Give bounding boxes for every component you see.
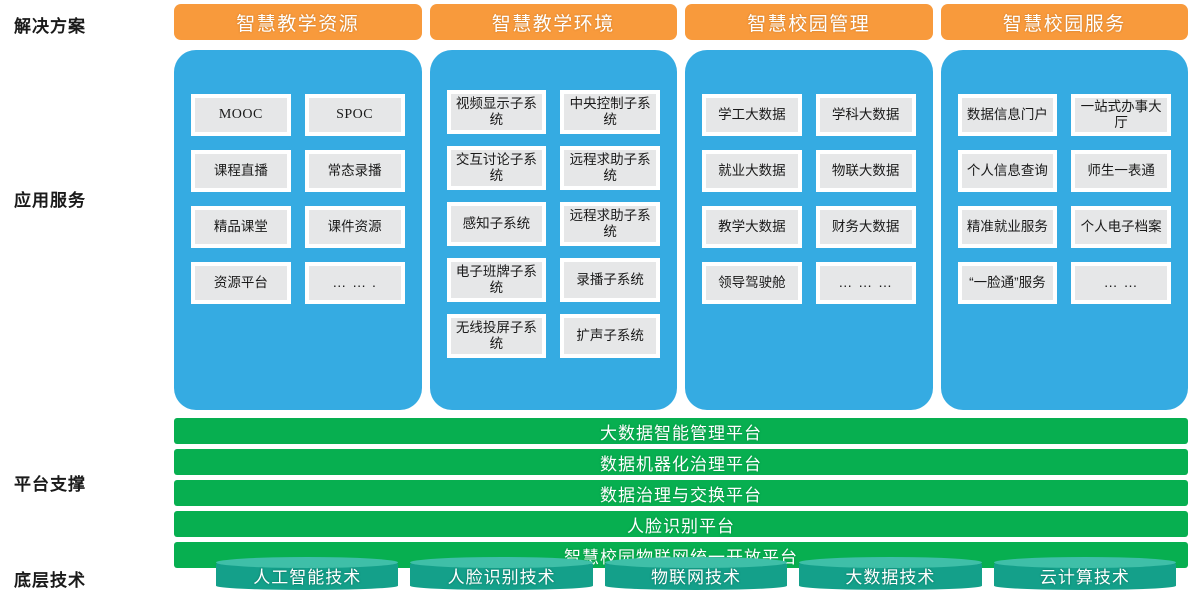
application-cell[interactable]: 领导驾驶舱 (702, 262, 802, 304)
application-cell[interactable]: 电子班牌子系统 (447, 258, 547, 302)
solution-header-teaching-environment[interactable]: 智慧教学环境 (430, 4, 678, 40)
application-cell[interactable]: 无线投屏子系统 (447, 314, 547, 358)
row-label-technology: 底层技术 (14, 566, 86, 591)
platform-bar[interactable]: 大数据智能管理平台 (174, 418, 1188, 444)
solution-header-label: 智慧教学环境 (492, 9, 615, 36)
technology-cylinder-ai[interactable]: 人工智能技术 (216, 560, 398, 590)
application-cell[interactable]: 感知子系统 (447, 202, 547, 246)
row-label-solution: 解决方案 (14, 12, 86, 37)
application-cell-ellipsis[interactable]: … … … (816, 262, 916, 304)
application-cell[interactable]: 学科大数据 (816, 94, 916, 136)
row-label-application: 应用服务 (14, 186, 86, 211)
application-cell[interactable]: MOOC (191, 94, 291, 136)
application-cell[interactable]: 精品课堂 (191, 206, 291, 248)
application-cell[interactable]: 个人信息查询 (958, 150, 1058, 192)
application-cell[interactable]: 精准就业服务 (958, 206, 1058, 248)
application-cell[interactable]: 扩声子系统 (560, 314, 660, 358)
application-cell[interactable]: 就业大数据 (702, 150, 802, 192)
application-cell[interactable]: 视频显示子系统 (447, 90, 547, 134)
technology-cylinder-cloud-computing[interactable]: 云计算技术 (994, 560, 1176, 590)
solution-header-label: 智慧教学资源 (236, 9, 359, 36)
technology-cylinder-big-data[interactable]: 大数据技术 (799, 560, 981, 590)
application-cell-grid: MOOC SPOC 课程直播 常态录播 精品课堂 课件资源 资源平台 … … . (191, 94, 405, 304)
application-cell[interactable]: 物联大数据 (816, 150, 916, 192)
application-cell[interactable]: 教学大数据 (702, 206, 802, 248)
technology-label: 大数据技术 (845, 563, 935, 588)
application-panel-teaching-resource: MOOC SPOC 课程直播 常态录播 精品课堂 课件资源 资源平台 … … . (174, 50, 422, 410)
application-cell-grid: 视频显示子系统 中央控制子系统 交互讨论子系统 远程求助子系统 感知子系统 远程… (447, 90, 661, 358)
platform-support-stack: 大数据智能管理平台 数据机器化治理平台 数据治理与交换平台 人脸识别平台 智慧校… (174, 418, 1188, 568)
application-cell[interactable]: 个人电子档案 (1071, 206, 1171, 248)
technology-label: 云计算技术 (1040, 563, 1130, 588)
solution-header-row: 智慧教学资源 智慧教学环境 智慧校园管理 智慧校园服务 (174, 4, 1188, 40)
solution-header-label: 智慧校园服务 (1003, 9, 1126, 36)
technology-label: 物联网技术 (651, 563, 741, 588)
application-cell[interactable]: 课件资源 (305, 206, 405, 248)
application-panel-teaching-environment: 视频显示子系统 中央控制子系统 交互讨论子系统 远程求助子系统 感知子系统 远程… (430, 50, 678, 410)
application-cell[interactable]: 学工大数据 (702, 94, 802, 136)
row-label-platform: 平台支撑 (14, 470, 86, 495)
platform-bar[interactable]: 数据机器化治理平台 (174, 449, 1188, 475)
application-cell[interactable]: 数据信息门户 (958, 94, 1058, 136)
application-cell[interactable]: 录播子系统 (560, 258, 660, 302)
application-cell[interactable]: 资源平台 (191, 262, 291, 304)
solution-header-campus-management[interactable]: 智慧校园管理 (685, 4, 933, 40)
application-cell[interactable]: 远程求助子系统 (560, 202, 660, 246)
application-cell[interactable]: 常态录播 (305, 150, 405, 192)
solution-header-label: 智慧校园管理 (747, 9, 870, 36)
technology-row: 人工智能技术 人脸识别技术 物联网技术 大数据技术 云计算技术 (216, 560, 1176, 594)
solution-header-teaching-resource[interactable]: 智慧教学资源 (174, 4, 422, 40)
application-cell[interactable]: 交互讨论子系统 (447, 146, 547, 190)
application-cell-grid: 数据信息门户 一站式办事大厅 个人信息查询 师生一表通 精准就业服务 个人电子档… (958, 94, 1172, 304)
application-cell[interactable]: SPOC (305, 94, 405, 136)
technology-label: 人工智能技术 (253, 563, 361, 588)
platform-bar[interactable]: 人脸识别平台 (174, 511, 1188, 537)
application-cell[interactable]: 中央控制子系统 (560, 90, 660, 134)
application-cell-ellipsis[interactable]: … … (1071, 262, 1171, 304)
application-cell[interactable]: “一脸通”服务 (958, 262, 1058, 304)
application-cell[interactable]: 远程求助子系统 (560, 146, 660, 190)
solution-header-campus-service[interactable]: 智慧校园服务 (941, 4, 1189, 40)
application-cell[interactable]: 一站式办事大厅 (1071, 94, 1171, 136)
application-panel-row: MOOC SPOC 课程直播 常态录播 精品课堂 课件资源 资源平台 … … .… (174, 50, 1188, 410)
application-panel-campus-service: 数据信息门户 一站式办事大厅 个人信息查询 师生一表通 精准就业服务 个人电子档… (941, 50, 1189, 410)
application-cell[interactable]: 课程直播 (191, 150, 291, 192)
platform-bar[interactable]: 数据治理与交换平台 (174, 480, 1188, 506)
application-cell[interactable]: 师生一表通 (1071, 150, 1171, 192)
technology-label: 人脸识别技术 (448, 563, 556, 588)
technology-cylinder-iot[interactable]: 物联网技术 (605, 560, 787, 590)
application-panel-campus-management: 学工大数据 学科大数据 就业大数据 物联大数据 教学大数据 财务大数据 领导驾驶… (685, 50, 933, 410)
application-cell[interactable]: 财务大数据 (816, 206, 916, 248)
technology-cylinder-face-recognition[interactable]: 人脸识别技术 (410, 560, 592, 590)
application-cell-ellipsis[interactable]: … … . (305, 262, 405, 304)
application-cell-grid: 学工大数据 学科大数据 就业大数据 物联大数据 教学大数据 财务大数据 领导驾驶… (702, 94, 916, 304)
